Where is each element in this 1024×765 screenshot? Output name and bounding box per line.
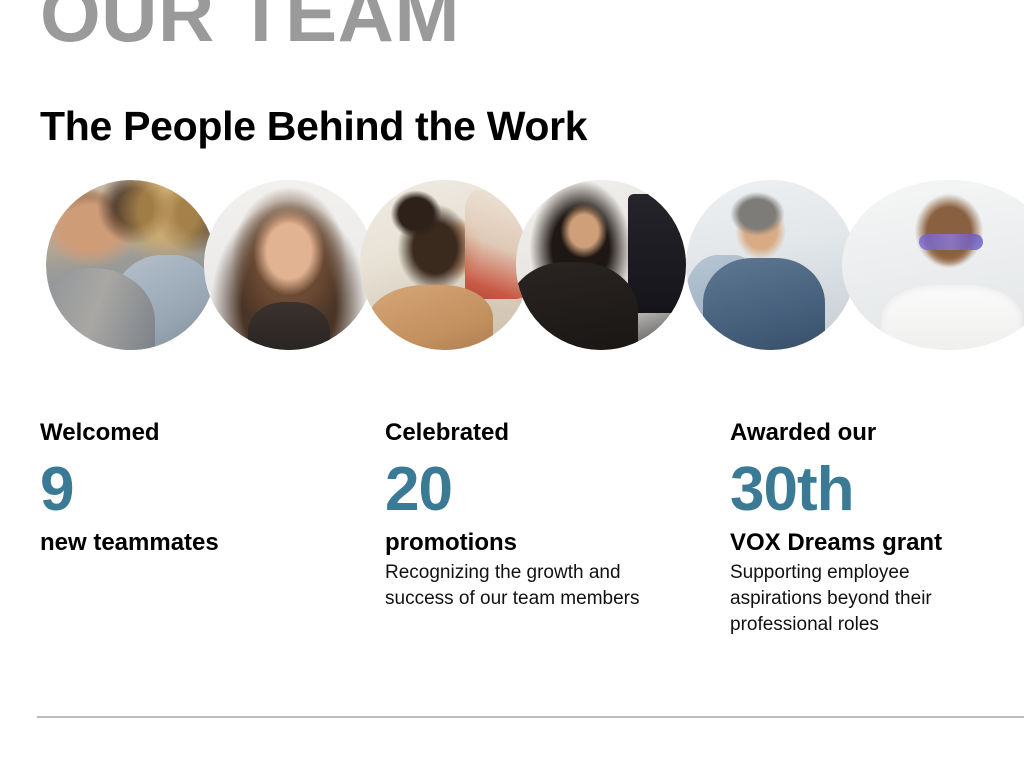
team-photo-6	[842, 180, 1024, 350]
team-photo-3	[360, 180, 530, 350]
stat-eyebrow: Welcomed	[40, 418, 385, 448]
stat-number: 30th	[730, 456, 1020, 524]
stat-number: 9	[40, 456, 385, 524]
stat-block-awarded: Awarded our 30th VOX Dreams grant Suppor…	[730, 418, 1020, 638]
team-photo-5-image	[686, 180, 856, 350]
section-kicker: OUR TEAM	[40, 0, 460, 62]
team-photo-6-image	[842, 180, 1024, 350]
stat-number: 20	[385, 456, 730, 524]
team-photo-3-image	[360, 180, 530, 350]
team-photo-2	[204, 180, 374, 350]
team-photo-4	[516, 180, 686, 350]
stat-label: new teammates	[40, 528, 385, 558]
team-photo-1-image	[46, 180, 216, 350]
team-photo-2-image	[204, 180, 374, 350]
team-photo-5	[686, 180, 856, 350]
stat-description: Supporting employee aspirations beyond t…	[730, 560, 990, 638]
stats-row: Welcomed 9 new teammates Celebrated 20 p…	[40, 418, 1000, 638]
stat-label: promotions	[385, 528, 730, 558]
team-photo-4-image	[516, 180, 686, 350]
stat-eyebrow: Celebrated	[385, 418, 730, 448]
stat-block-welcomed: Welcomed 9 new teammates	[40, 418, 385, 638]
slide-canvas: OUR TEAM The People Behind the Work Welc…	[0, 0, 1024, 765]
stat-label: VOX Dreams grant	[730, 528, 1020, 558]
section-kicker-container: OUR TEAM	[40, 0, 460, 62]
stat-eyebrow: Awarded our	[730, 418, 1020, 448]
stat-description: Recognizing the growth and success of ou…	[385, 560, 645, 612]
team-photo-1	[46, 180, 216, 350]
page-title: The People Behind the Work	[40, 100, 587, 152]
stat-block-celebrated: Celebrated 20 promotions Recognizing the…	[385, 418, 730, 638]
team-photo-strip	[46, 180, 1014, 352]
footer-divider	[37, 716, 1024, 718]
